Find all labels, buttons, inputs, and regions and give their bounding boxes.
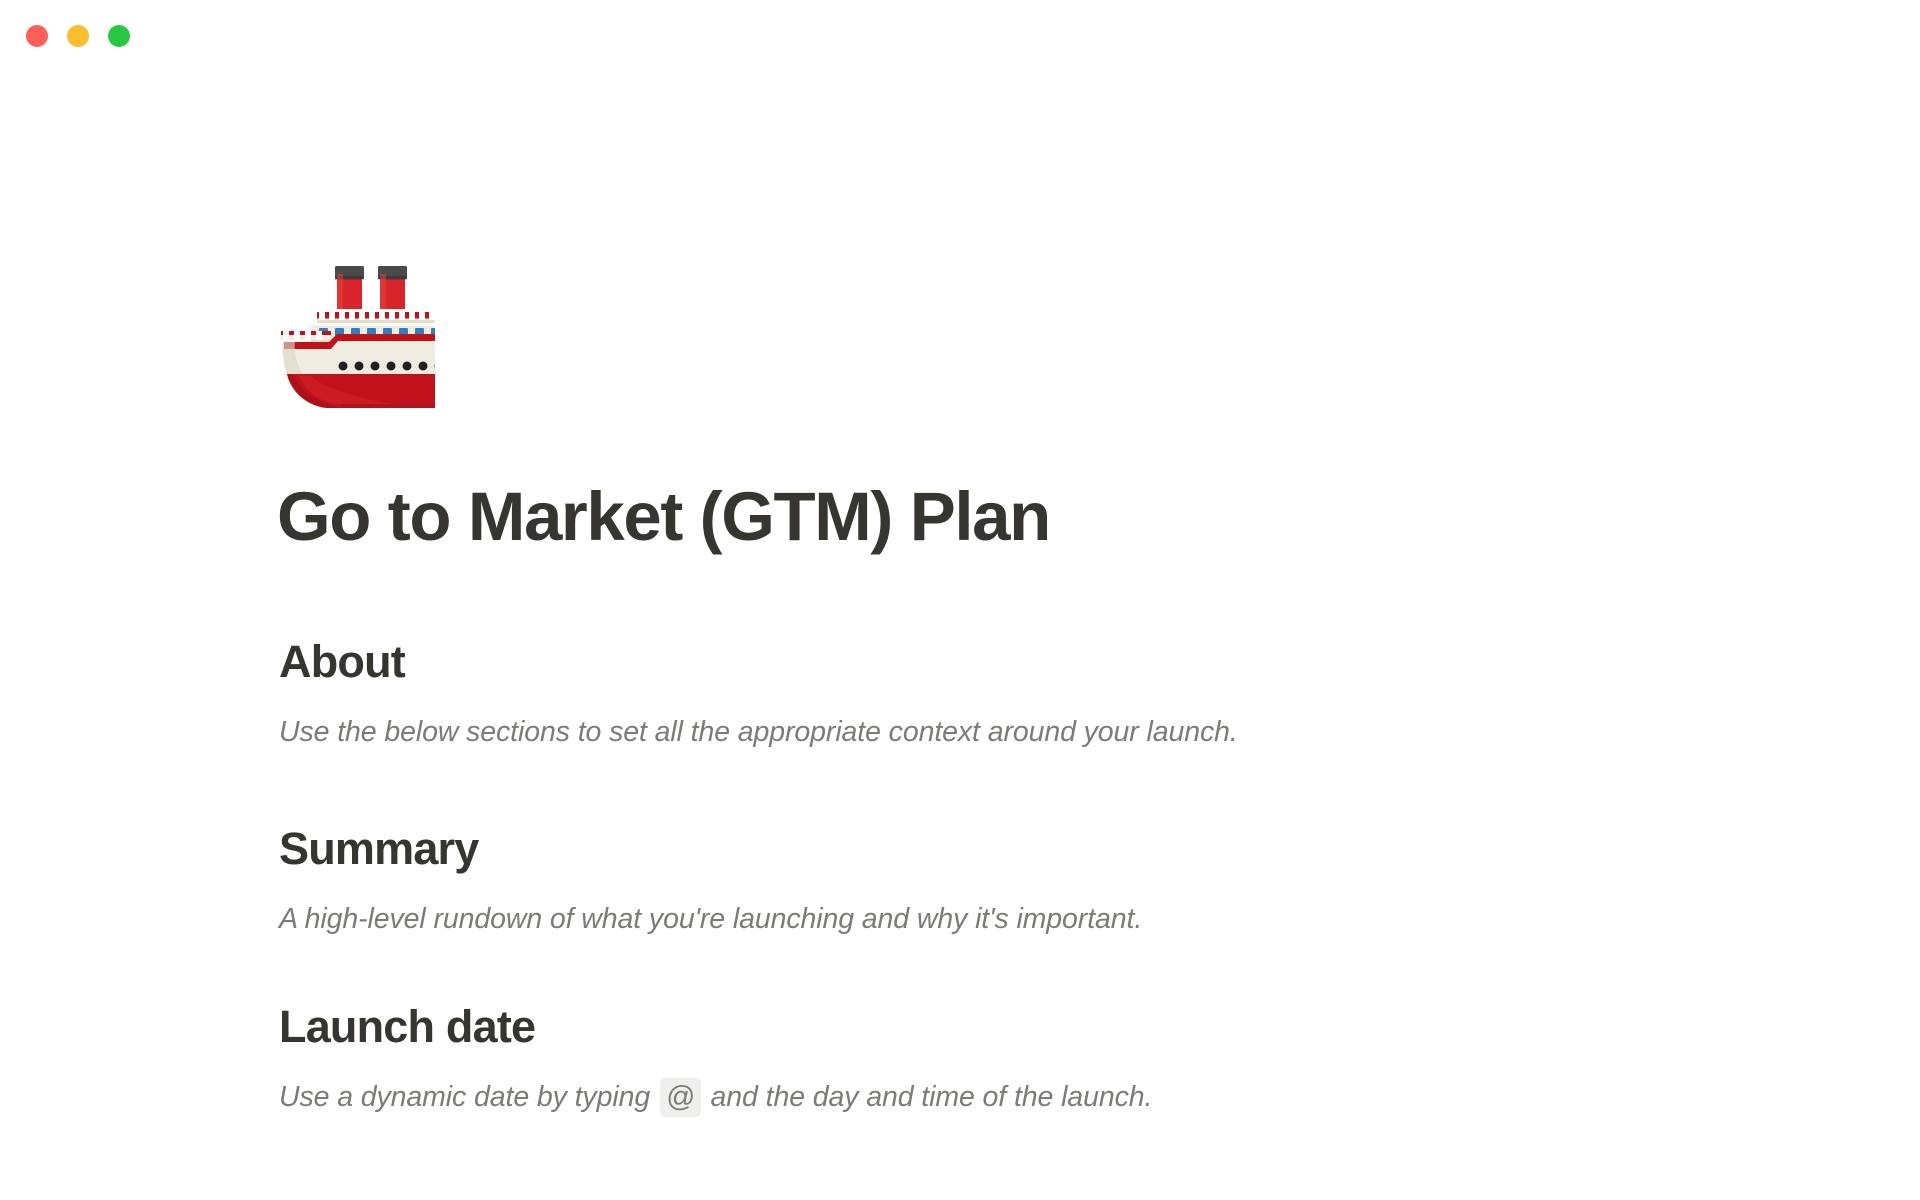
section-body-summary[interactable]: A high-level rundown of what you're laun…	[279, 899, 1142, 940]
section-body-launch-date[interactable]: Use a dynamic date by typing @ and the d…	[279, 1077, 1152, 1118]
section-about: About Use the below sections to set all …	[279, 638, 1238, 753]
section-launch-date: Launch date Use a dynamic date by typing…	[279, 1003, 1152, 1118]
section-body-about[interactable]: Use the below sections to set all the ap…	[279, 712, 1238, 753]
section-heading-launch-date[interactable]: Launch date	[279, 1003, 1152, 1052]
page-icon[interactable]	[281, 262, 435, 410]
section-heading-about[interactable]: About	[279, 638, 1238, 687]
section-body-text-after: and the day and time of the launch.	[703, 1081, 1153, 1113]
section-body-text: A high-level rundown of what you're laun…	[279, 903, 1142, 935]
app-window: Go to Market (GTM) Plan About Use the be…	[0, 0, 1920, 1200]
section-heading-summary[interactable]: Summary	[279, 825, 1142, 874]
document-canvas: Go to Market (GTM) Plan About Use the be…	[0, 0, 1920, 1200]
section-body-text: Use the below sections to set all the ap…	[279, 716, 1238, 748]
passenger-ship-icon	[281, 262, 435, 410]
page-title[interactable]: Go to Market (GTM) Plan	[277, 482, 1050, 551]
section-body-text-before: Use a dynamic date by typing	[279, 1081, 658, 1113]
mention-trigger-chip[interactable]: @	[660, 1078, 701, 1117]
section-summary: Summary A high-level rundown of what you…	[279, 825, 1142, 940]
